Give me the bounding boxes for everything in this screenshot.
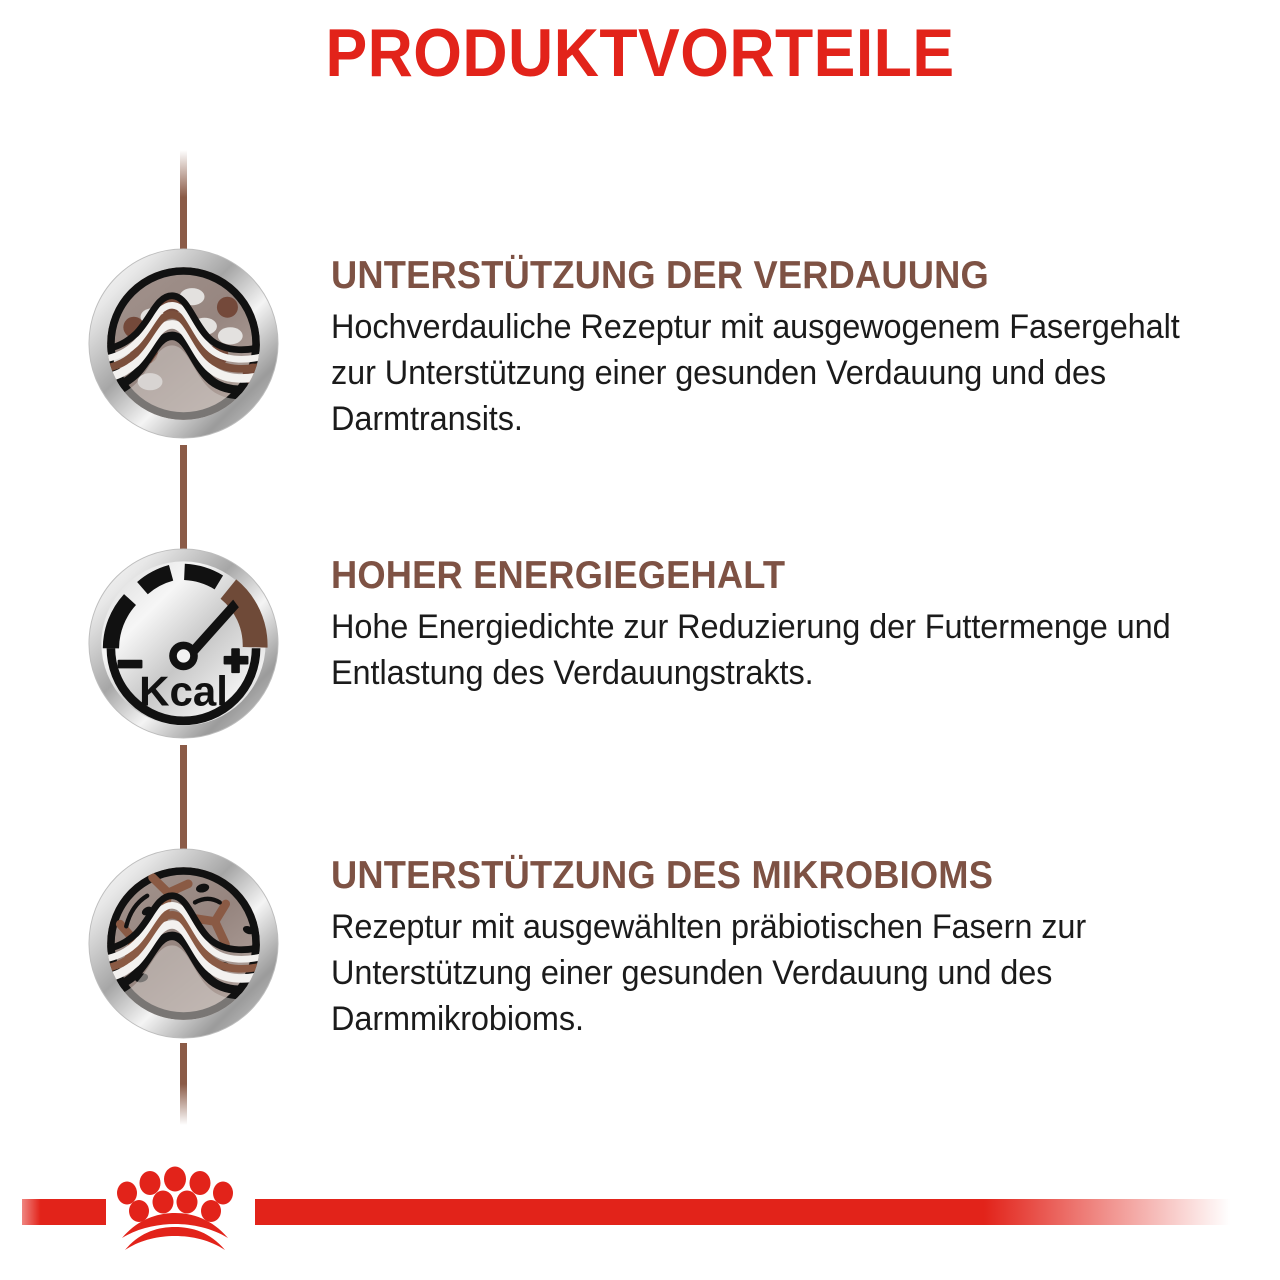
timeline-segment-bottom — [180, 1043, 187, 1125]
benefit-text-block: UNTERSTÜTZUNG DER VERDAUUNG Hochverdauli… — [331, 254, 1261, 442]
benefit-body: Hohe Energiedichte zur Reduzierung der F… — [331, 604, 1219, 696]
benefit-item: UNTERSTÜTZUNG DES MIKROBIOMS Rezeptur mi… — [0, 848, 1280, 1048]
benefit-text-block: HOHER ENERGIEGEHALT Hohe Energiedichte z… — [331, 554, 1261, 696]
kcal-gauge-icon: Kcal — [88, 548, 279, 739]
benefit-heading: UNTERSTÜTZUNG DES MIKROBIOMS — [331, 854, 1196, 898]
red-rule-left — [22, 1199, 106, 1225]
microbiome-bacteria-wave-icon — [88, 848, 279, 1039]
royal-canin-crown-logo — [112, 1166, 238, 1250]
benefit-item: Kcal HOHER ENERGIEGEHALT Hohe Energiedic… — [0, 548, 1280, 748]
digestion-dots-wave-icon — [88, 248, 279, 439]
footer-brand-bar — [0, 1160, 1280, 1280]
gauge-kcal-label: Kcal — [139, 668, 228, 715]
benefit-body: Rezeptur mit ausgewählten präbiotischen … — [331, 904, 1219, 1042]
benefit-heading: HOHER ENERGIEGEHALT — [331, 554, 1196, 598]
red-rule-right — [255, 1199, 1240, 1225]
benefit-item: UNTERSTÜTZUNG DER VERDAUUNG Hochverdauli… — [0, 248, 1280, 448]
benefit-text-block: UNTERSTÜTZUNG DES MIKROBIOMS Rezeptur mi… — [331, 854, 1261, 1042]
timeline-segment-top — [180, 150, 187, 255]
page-title: PRODUKTVORTEILE — [51, 14, 1229, 92]
benefit-body: Hochverdauliche Rezeptur mit ausgewogene… — [331, 304, 1219, 442]
benefit-heading: UNTERSTÜTZUNG DER VERDAUUNG — [331, 254, 1196, 298]
